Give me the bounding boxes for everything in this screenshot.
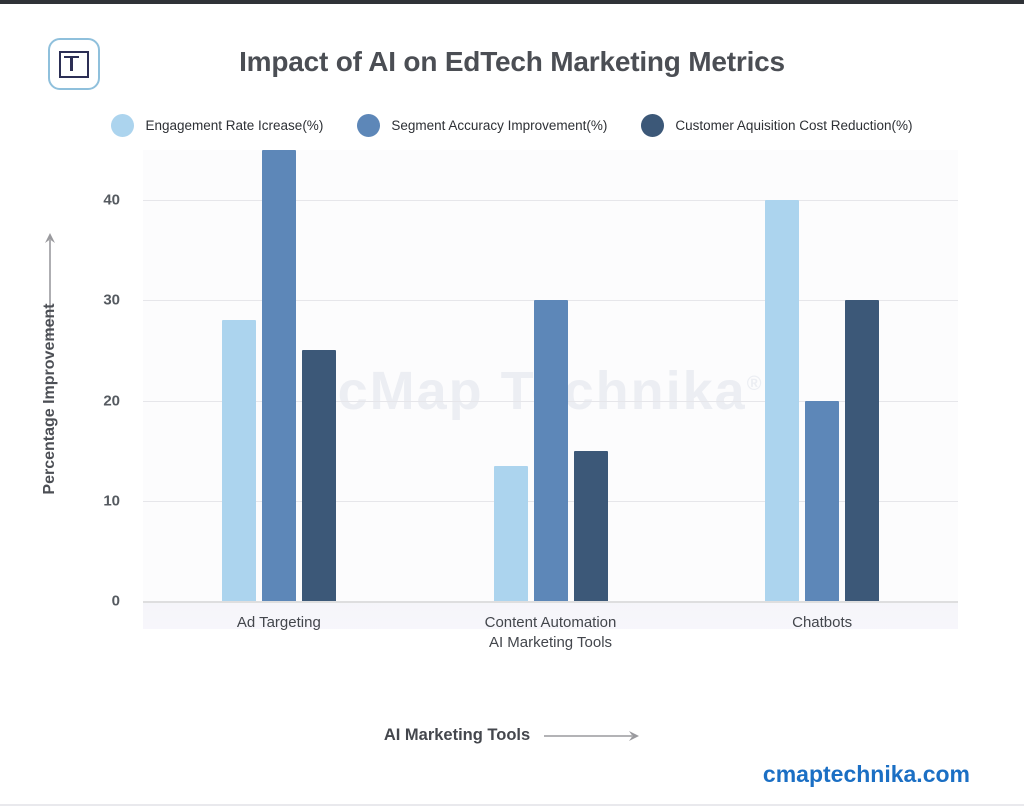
- legend-label: Engagement Rate Icrease(%): [145, 118, 323, 133]
- legend-item-2[interactable]: Customer Aquisition Cost Reduction(%): [641, 114, 912, 137]
- x-axis-title-group: AI Marketing Tools: [0, 726, 1024, 745]
- bar[interactable]: [262, 150, 296, 601]
- top-edge-strip: [0, 0, 1024, 4]
- legend-label: Customer Aquisition Cost Reduction(%): [675, 118, 912, 133]
- y-tick-label: 0: [62, 593, 120, 610]
- x-category-label-text: Ad Targeting: [129, 613, 429, 633]
- chart-title: Impact of AI on EdTech Marketing Metrics: [0, 46, 1024, 78]
- x-category-label: Ad Targeting: [129, 613, 429, 633]
- x-category-label: Content AutomationAI Marketing Tools: [401, 613, 701, 653]
- footer-url[interactable]: cmaptechnika.com: [763, 761, 970, 788]
- x-axis-title: AI Marketing Tools: [384, 726, 530, 745]
- bar[interactable]: [845, 300, 879, 601]
- bar[interactable]: [494, 466, 528, 601]
- legend-label: Segment Accuracy Improvement(%): [391, 118, 607, 133]
- bar[interactable]: [574, 451, 608, 601]
- y-tick-label: 40: [62, 192, 120, 209]
- x-category-label-text: Content Automation: [401, 613, 701, 633]
- bar[interactable]: [222, 320, 256, 601]
- axis-baseline: [143, 601, 958, 603]
- legend-item-1[interactable]: Segment Accuracy Improvement(%): [357, 114, 607, 137]
- bar[interactable]: [534, 300, 568, 601]
- bar[interactable]: [765, 200, 799, 601]
- legend-swatch-icon: [111, 114, 134, 137]
- chart-canvas: Impact of AI on EdTech Marketing Metrics…: [0, 0, 1024, 806]
- legend-item-0[interactable]: Engagement Rate Icrease(%): [111, 114, 323, 137]
- bar[interactable]: [805, 401, 839, 601]
- legend-swatch-icon: [357, 114, 380, 137]
- x-category-label-text: Chatbots: [672, 613, 972, 633]
- bars-layer: [143, 150, 958, 601]
- legend-swatch-icon: [641, 114, 664, 137]
- y-tick-label: 10: [62, 492, 120, 509]
- bar[interactable]: [302, 350, 336, 601]
- x-category-sublabel: AI Marketing Tools: [401, 633, 701, 653]
- chart-legend: Engagement Rate Icrease(%)Segment Accura…: [0, 114, 1024, 137]
- x-axis-arrow-icon: [544, 730, 640, 742]
- y-axis-title: Percentage Improvement: [41, 289, 59, 509]
- y-tick-label: 30: [62, 292, 120, 309]
- y-tick-label: 20: [62, 392, 120, 409]
- x-category-label: Chatbots: [672, 613, 972, 633]
